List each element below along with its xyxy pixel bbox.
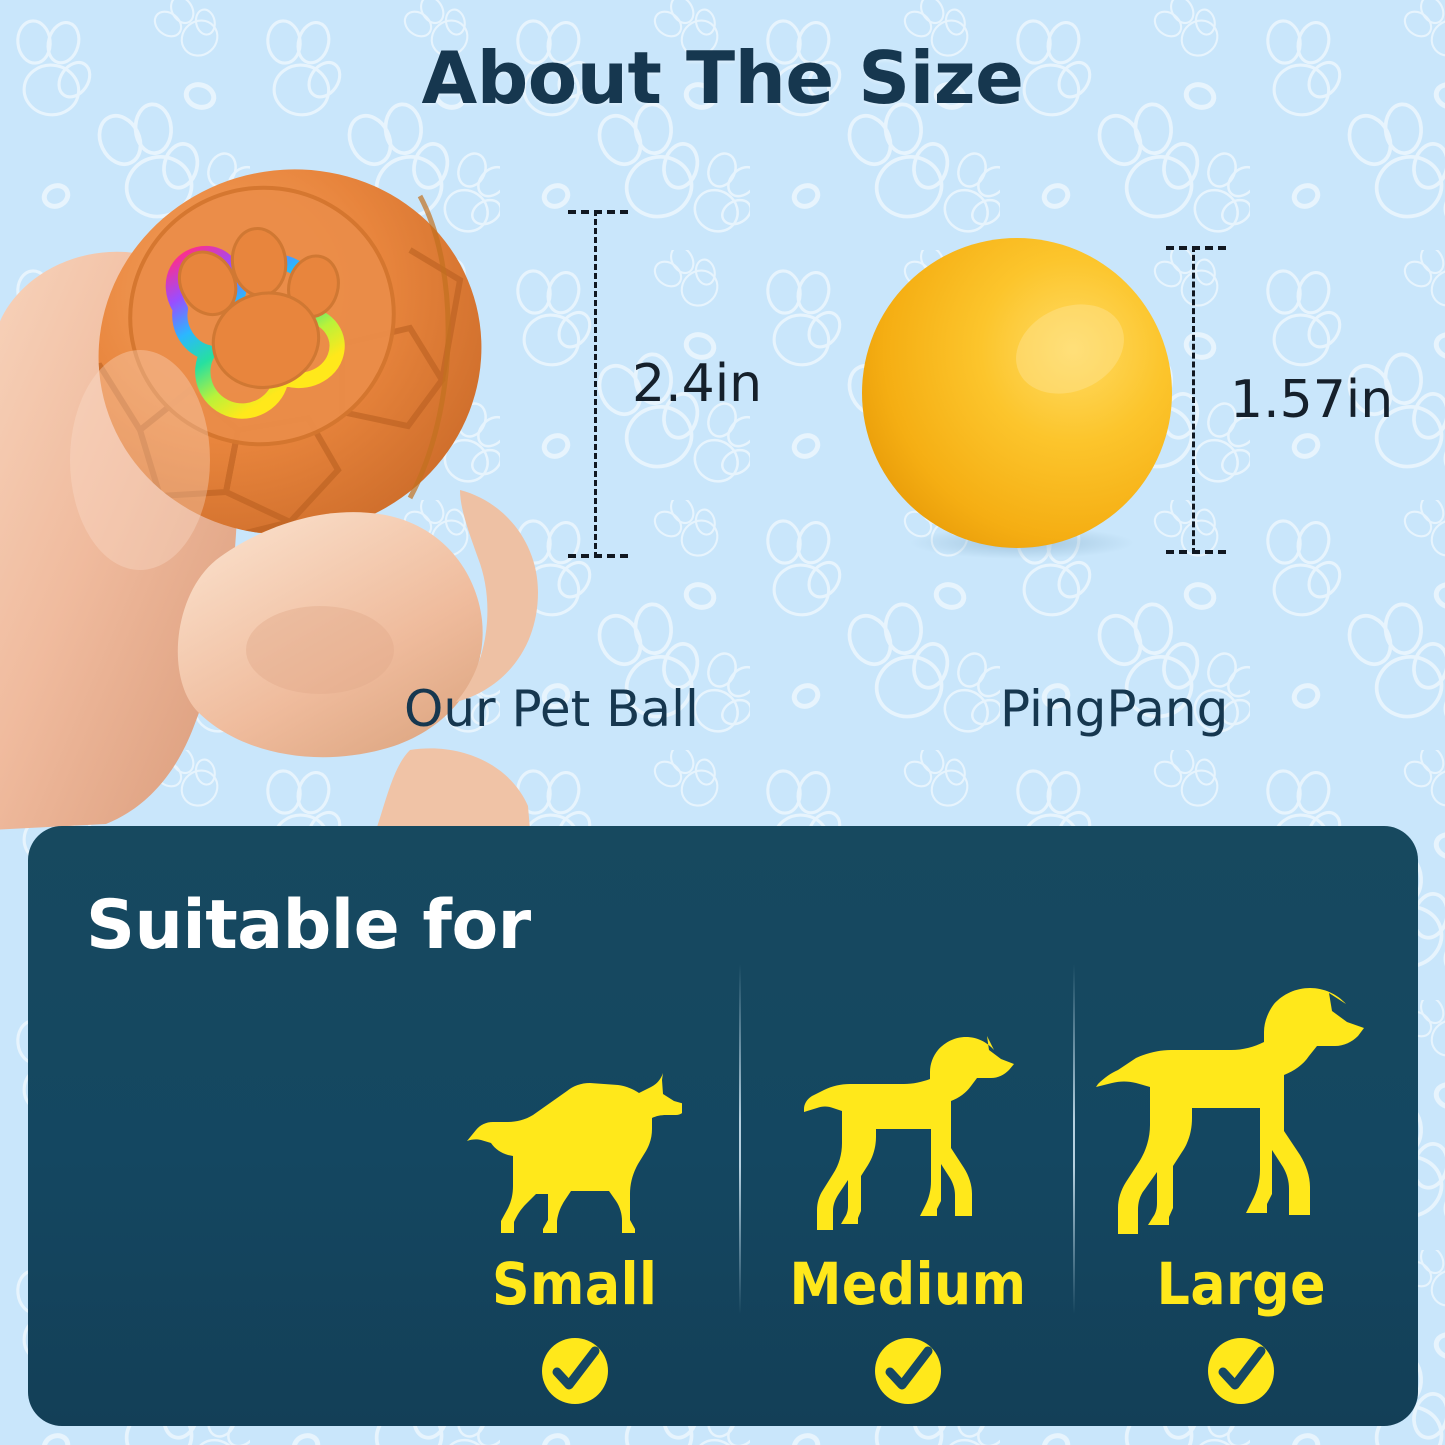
dog-size-column-medium: Medium <box>741 936 1074 1406</box>
dimension-cap-bottom <box>568 554 628 558</box>
size-label-small: Small <box>492 1250 657 1318</box>
medium-dog-silhouette-icon <box>788 1020 1028 1240</box>
size-label-medium: Medium <box>789 1250 1026 1318</box>
dog-size-column-large: Large <box>1075 936 1408 1406</box>
check-mark-icon-large <box>1206 1336 1276 1406</box>
ping-pong-ball-image <box>856 237 1178 559</box>
check-mark-icon-medium <box>873 1336 943 1406</box>
dimension-cap-top <box>1166 246 1226 250</box>
dimension-vertical-line <box>594 210 597 558</box>
large-dog-icon-wrap <box>1096 990 1386 1240</box>
dimension-cap-bottom <box>1166 550 1226 554</box>
dog-size-column-small: Small <box>408 936 741 1406</box>
caption-pingpang: PingPang <box>1000 680 1228 738</box>
check-mark-icon-small <box>540 1336 610 1406</box>
dog-size-columns: Small Medium <box>408 936 1408 1406</box>
large-dog-silhouette-icon <box>1096 988 1386 1240</box>
small-dog-icon-wrap <box>467 990 682 1240</box>
page-title: About The Size <box>0 36 1445 120</box>
caption-our-pet-ball: Our Pet Ball <box>404 680 699 738</box>
dimension-cap-top <box>568 210 628 214</box>
size-label-large: Large <box>1157 1250 1326 1318</box>
medium-dog-icon-wrap <box>788 990 1028 1240</box>
small-dog-silhouette-icon <box>467 1055 682 1240</box>
dimension-vertical-line <box>1192 246 1195 554</box>
dimension-label-pingpang: 1.57in <box>1230 370 1393 430</box>
suitable-for-panel: Suitable for Small Medium <box>28 826 1418 1426</box>
dimension-label-our-pet-ball: 2.4in <box>632 354 762 414</box>
